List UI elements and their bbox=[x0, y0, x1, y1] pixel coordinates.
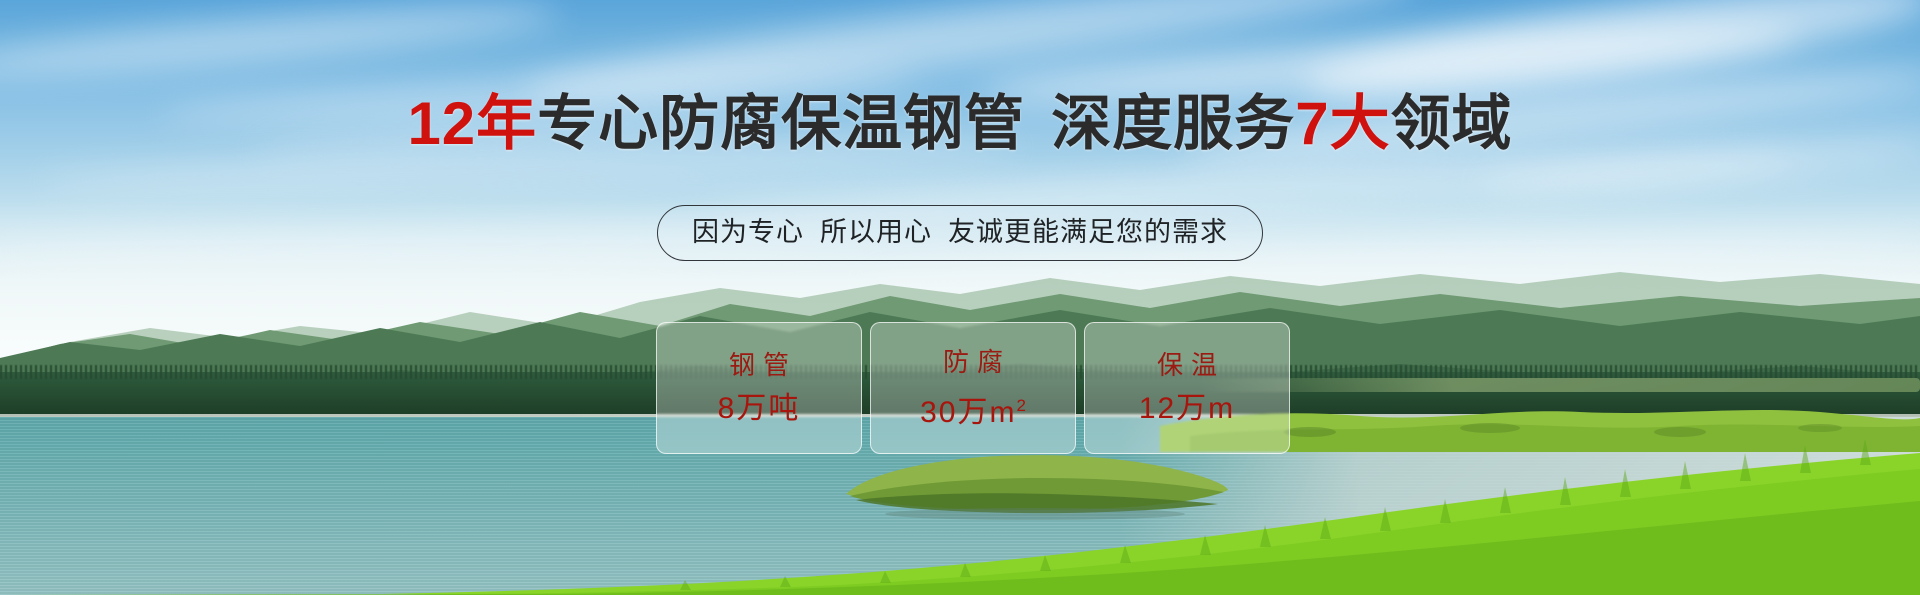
stat-card-label: 钢管 bbox=[721, 351, 797, 379]
stat-card-value: 8万吨 bbox=[718, 393, 801, 425]
headline-count: 7 bbox=[1295, 90, 1329, 157]
stat-card-anticorrosion[interactable]: 防腐 30万m2 bbox=[870, 322, 1076, 454]
stat-card-value: 30万m2 bbox=[920, 390, 1026, 429]
stat-card-insulation[interactable]: 保温 12万m bbox=[1084, 322, 1290, 454]
headline-years: 12年 bbox=[407, 90, 537, 157]
stat-card-group: 钢管 8万吨 防腐 30万m2 保温 12万m bbox=[656, 322, 1290, 454]
far-bank bbox=[1200, 378, 1920, 392]
subtitle-segment-1: 因为专心 bbox=[692, 217, 804, 247]
headline-service: 深度服务 bbox=[1051, 90, 1295, 157]
stat-card-value-text: 12万m bbox=[1139, 392, 1235, 425]
subtitle-segment-3: 友诚更能满足您的需求 bbox=[948, 217, 1228, 247]
stat-card-label: 保温 bbox=[1149, 351, 1225, 379]
headline: 12年专心防腐保温钢管深度服务7大领域 bbox=[0, 92, 1920, 156]
headline-main: 专心防腐保温钢管 bbox=[537, 90, 1025, 157]
subtitle-segment-2: 所以用心 bbox=[820, 217, 932, 247]
stat-card-value-text: 8万吨 bbox=[718, 392, 801, 425]
stat-card-value-superscript: 2 bbox=[1016, 396, 1025, 415]
foreground-grass bbox=[0, 435, 1920, 595]
headline-count-unit: 大 bbox=[1330, 90, 1391, 157]
stat-card-value-text: 30万m bbox=[920, 396, 1016, 429]
headline-fields: 领域 bbox=[1391, 90, 1513, 157]
cloud-streak bbox=[0, 0, 561, 89]
stat-card-steel-pipe[interactable]: 钢管 8万吨 bbox=[656, 322, 862, 454]
hero-banner: 12年专心防腐保温钢管深度服务7大领域 因为专心所以用心友诚更能满足您的需求 钢… bbox=[0, 0, 1920, 595]
stat-card-value: 12万m bbox=[1139, 393, 1235, 425]
stat-card-label: 防腐 bbox=[935, 348, 1011, 376]
subtitle-wrapper: 因为专心所以用心友诚更能满足您的需求 bbox=[0, 205, 1920, 261]
subtitle-pill: 因为专心所以用心友诚更能满足您的需求 bbox=[657, 205, 1263, 261]
